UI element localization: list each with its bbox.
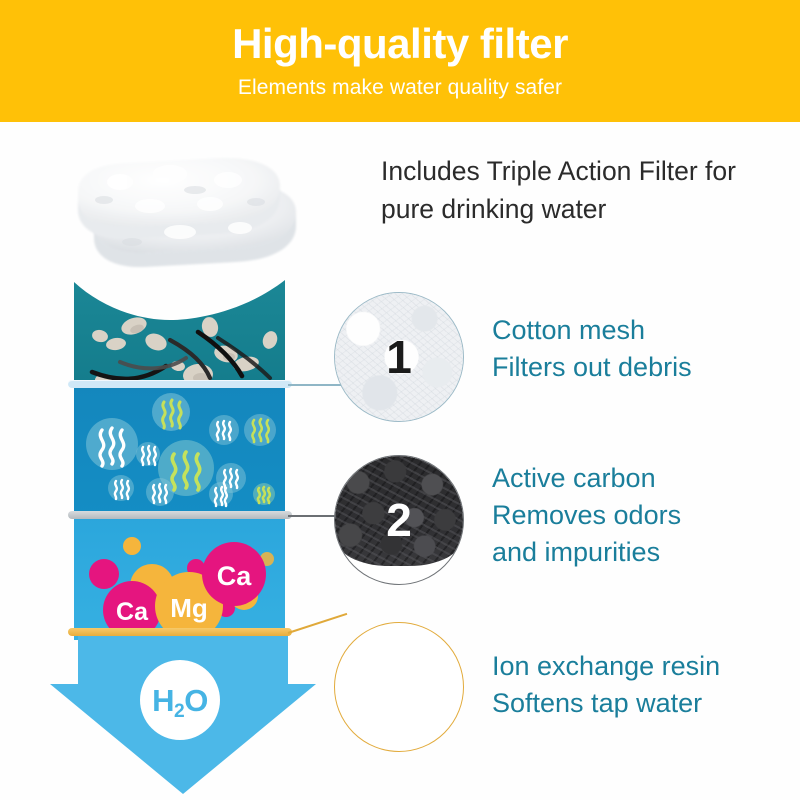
step-3-text: Ion exchange resin Softens tap water — [492, 648, 720, 722]
step-1-description: Filters out debris — [492, 349, 692, 386]
cotton-mesh-swatch-icon: 1 — [334, 292, 464, 422]
active-carbon-swatch-icon: 2 — [334, 455, 464, 585]
svg-text:Ca: Ca — [217, 561, 252, 591]
h2o-sub: 2 — [174, 701, 184, 722]
h2o-o: O — [184, 683, 208, 718]
step-1-title: Cotton mesh — [492, 312, 692, 349]
infographic-page: High-quality filter Elements make water … — [0, 0, 800, 800]
step-2-number: 2 — [386, 497, 412, 543]
step-3-description: Softens tap water — [492, 685, 720, 722]
page-title: High-quality filter — [232, 22, 568, 66]
step-2-title: Active carbon — [492, 460, 681, 497]
step-3-title: Ion exchange resin — [492, 648, 720, 685]
water-filter-column: Ca Mg Ca — [74, 278, 285, 640]
h2o-badge: H2O — [140, 660, 220, 740]
header-band: High-quality filter Elements make water … — [0, 0, 800, 122]
carbon-layer-separator — [68, 511, 292, 519]
step-2-description-line2: and impurities — [492, 534, 681, 571]
step-2-text: Active carbon Removes odors and impuriti… — [492, 460, 681, 571]
intro-description: Includes Triple Action Filter for pure d… — [381, 152, 751, 228]
step-1-text: Cotton mesh Filters out debris — [492, 312, 692, 386]
svg-text:Mg: Mg — [170, 593, 208, 623]
leader-line-3 — [288, 613, 348, 634]
step-3-number: 3 — [386, 664, 412, 710]
resin-layer-separator — [68, 628, 292, 636]
ion-resin-swatch-icon: 3 — [334, 622, 464, 752]
h2o-h: H — [152, 683, 174, 718]
step-1-number: 1 — [386, 334, 412, 380]
filter-pads-image — [60, 146, 320, 286]
h2o-label: H2O — [152, 685, 208, 716]
cotton-layer-separator — [68, 380, 292, 388]
step-2-description: Removes odors — [492, 497, 681, 534]
page-subtitle: Elements make water quality safer — [238, 76, 562, 100]
svg-text:Ca: Ca — [116, 598, 149, 626]
